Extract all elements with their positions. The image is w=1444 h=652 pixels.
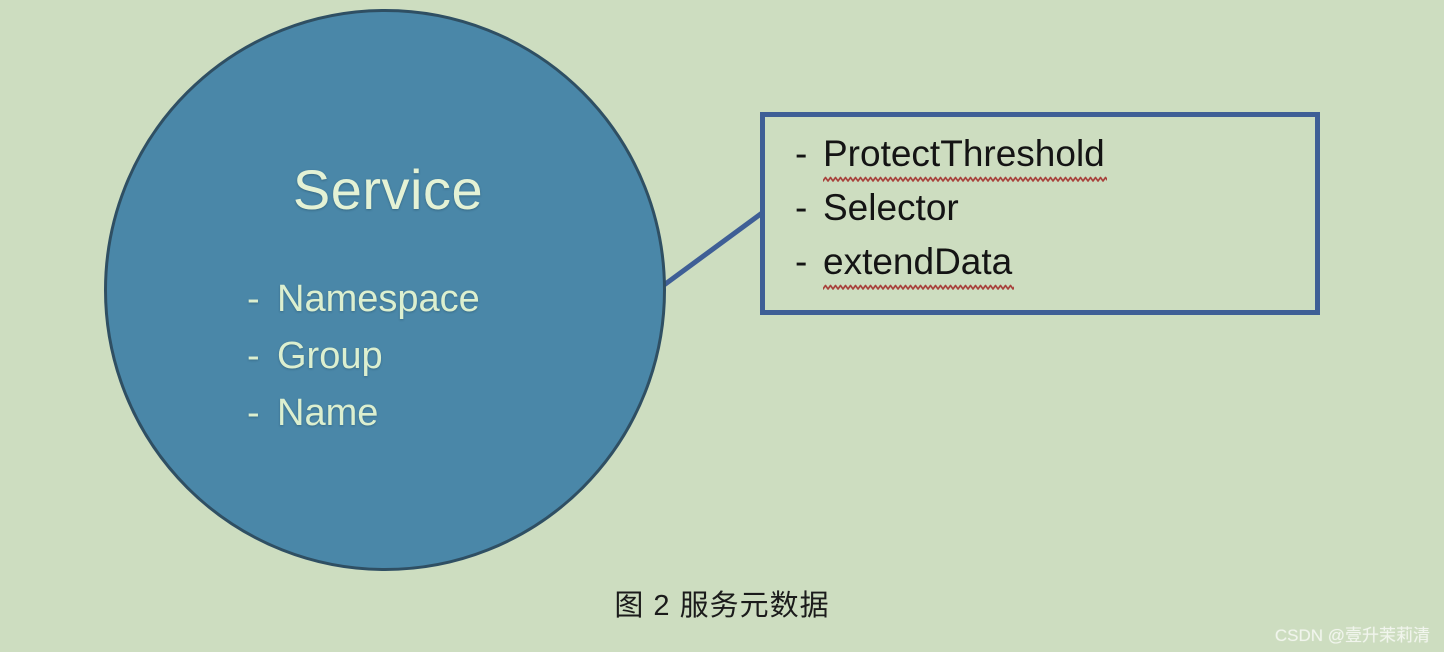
service-attribute-label: Name	[277, 394, 378, 432]
service-attribute-label: Group	[277, 337, 383, 375]
watermark: CSDN @壹升茉莉清	[1275, 627, 1430, 644]
service-node-circle: Service - Namespace - Group - Name	[104, 9, 666, 571]
bullet-dash-icon: -	[247, 280, 277, 318]
bullet-dash-icon: -	[247, 394, 277, 432]
attribute-callout-box: - ProtectThreshold - Selector - extendDa…	[760, 112, 1320, 315]
list-item: - Selector	[795, 189, 1295, 243]
figure-canvas: Service - Namespace - Group - Name - Pro…	[0, 0, 1444, 652]
list-item: - Group	[247, 337, 667, 394]
list-item: - extendData	[795, 243, 1295, 297]
service-node-title: Service	[107, 162, 669, 218]
list-item: - Name	[247, 394, 667, 451]
list-item: - Namespace	[247, 280, 667, 337]
bullet-dash-icon: -	[795, 243, 823, 280]
bullet-dash-icon: -	[247, 337, 277, 375]
attribute-item-label: Selector	[823, 189, 959, 226]
attribute-item-list: - ProtectThreshold - Selector - extendDa…	[795, 135, 1295, 297]
bullet-dash-icon: -	[795, 189, 823, 226]
bullet-dash-icon: -	[795, 135, 823, 172]
service-attribute-label: Namespace	[277, 280, 480, 318]
attribute-item-label: extendData	[823, 243, 1012, 280]
service-attribute-list: - Namespace - Group - Name	[247, 280, 667, 451]
list-item: - ProtectThreshold	[795, 135, 1295, 189]
attribute-item-label: ProtectThreshold	[823, 135, 1105, 172]
figure-caption: 图 2 服务元数据	[0, 592, 1444, 621]
